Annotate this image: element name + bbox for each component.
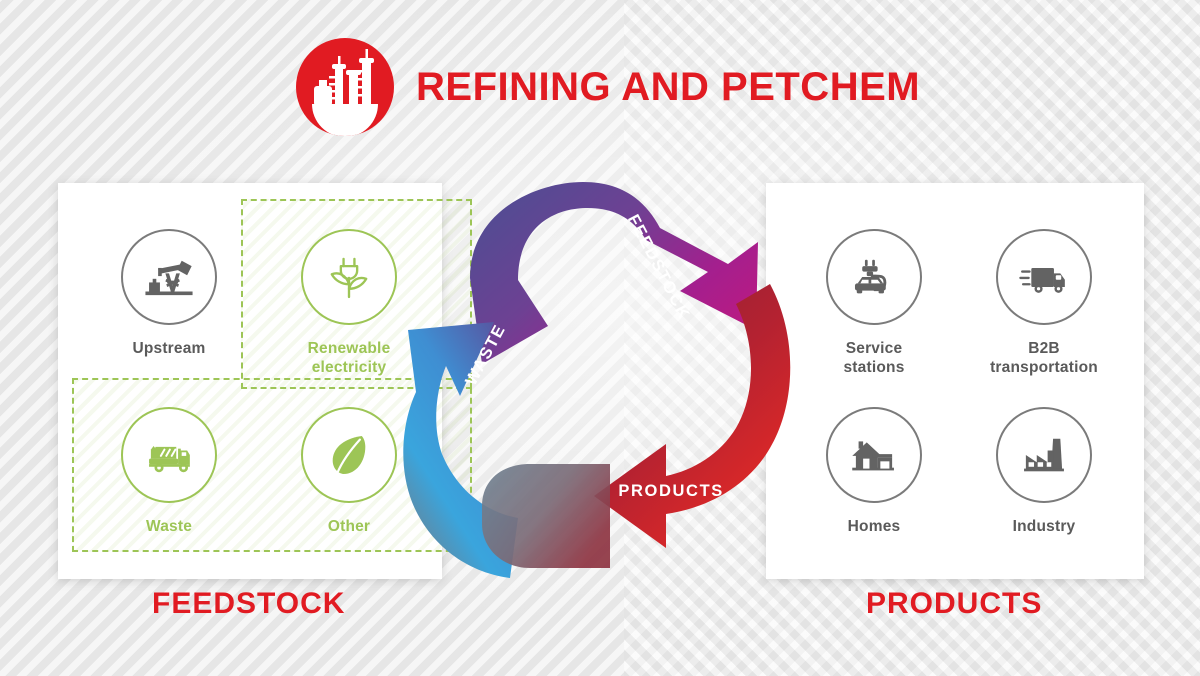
tile-label: Service stations xyxy=(843,339,904,378)
delivery-truck-icon xyxy=(996,229,1092,325)
tile-label: Other xyxy=(328,517,370,536)
oil-pumpjack-icon xyxy=(121,229,217,325)
leaf-icon xyxy=(301,407,397,503)
factory-icon xyxy=(996,407,1092,503)
tile-label-line1: Service xyxy=(846,340,903,357)
tile-label: Industry xyxy=(1013,517,1076,536)
products-panel: Service stations xyxy=(766,183,1144,579)
plant-plug-icon xyxy=(301,229,397,325)
tile-industry[interactable]: Industry xyxy=(964,407,1124,536)
garbage-truck-icon xyxy=(121,407,217,503)
waste-arrow xyxy=(403,322,610,578)
tile-label-line2: electricity xyxy=(312,359,387,376)
tile-waste[interactable]: Waste xyxy=(94,407,244,536)
house-icon xyxy=(826,407,922,503)
tile-label-line1: B2B xyxy=(1028,340,1060,357)
products-arrow xyxy=(594,284,790,548)
feedstock-caption: FEEDSTOCK xyxy=(152,587,345,621)
tile-upstream[interactable]: Upstream xyxy=(94,229,244,358)
feedstock-panel: Upstream Renewable electricity xyxy=(58,183,442,579)
tile-label: Renewable electricity xyxy=(308,339,391,378)
tile-label: Homes xyxy=(848,517,901,536)
feedstock-arrow xyxy=(470,182,758,364)
products-caption: PRODUCTS xyxy=(866,587,1042,621)
tile-label: Upstream xyxy=(132,339,205,358)
tile-label-line2: transportation xyxy=(990,359,1098,376)
page-title: REFINING AND PETCHEM xyxy=(416,67,920,107)
tile-homes[interactable]: Homes xyxy=(794,407,954,536)
tile-service-stations[interactable]: Service stations xyxy=(794,229,954,378)
tile-label: B2B transportation xyxy=(990,339,1098,378)
header: REFINING AND PETCHEM xyxy=(296,38,920,136)
products-arrow-label: PRODUCTS xyxy=(618,482,723,500)
tile-label-line1: Renewable xyxy=(308,340,391,357)
recycle-cycle-diagram: FEEDSTOCK WASTE PRODUCTS xyxy=(398,176,802,588)
tile-b2b-transportation[interactable]: B2B transportation xyxy=(964,229,1124,378)
tile-label: Waste xyxy=(146,517,192,536)
refinery-plant-icon xyxy=(296,38,394,136)
tile-label-line2: stations xyxy=(843,359,904,376)
ev-charging-car-icon xyxy=(826,229,922,325)
